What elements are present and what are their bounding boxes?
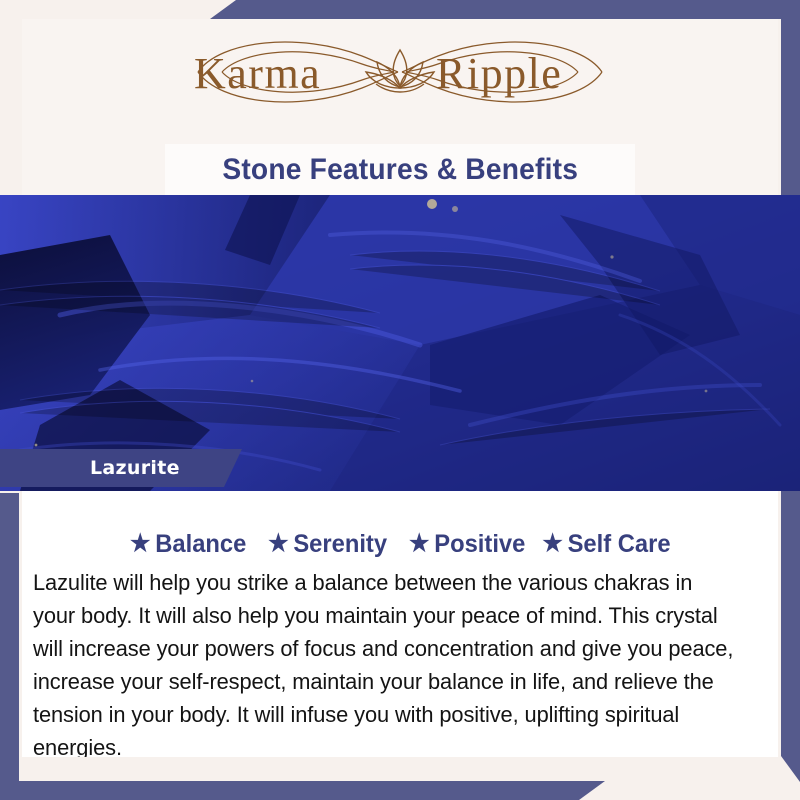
keyword-serenity: ★ Serenity bbox=[268, 530, 387, 559]
keyword-balance: ★ Balance bbox=[130, 530, 246, 559]
keyword-list: ★ Balance ★ Serenity ★ Positive ★ Self C… bbox=[22, 527, 778, 561]
karma-ripple-logo-svg: Karma Ripple bbox=[180, 26, 620, 118]
page-title-plate: Stone Features & Benefits bbox=[165, 144, 635, 196]
star-icon: ★ bbox=[130, 532, 150, 556]
star-icon: ★ bbox=[409, 532, 429, 556]
star-icon: ★ bbox=[542, 532, 562, 556]
brand-name-right: Ripple bbox=[436, 49, 562, 98]
lotus-icon bbox=[366, 50, 434, 92]
keyword-label: Balance bbox=[155, 530, 246, 559]
stone-name-banner: Lazurite bbox=[0, 449, 242, 487]
keyword-self-care: ★ Self Care bbox=[542, 530, 670, 559]
keyword-positive: ★ Positive bbox=[409, 530, 525, 559]
star-icon: ★ bbox=[268, 532, 288, 556]
bottom-left-accent-band bbox=[0, 781, 605, 800]
card-bottom-gap bbox=[22, 757, 778, 779]
keyword-label: Positive bbox=[434, 530, 525, 559]
left-accent-band bbox=[0, 493, 19, 800]
top-right-accent-band bbox=[210, 0, 800, 19]
brand-logo: Karma Ripple bbox=[0, 24, 800, 120]
stone-name: Lazurite bbox=[90, 457, 180, 479]
stone-description: Lazulite will help you strike a balance … bbox=[33, 566, 733, 764]
stone-photo bbox=[0, 195, 800, 491]
page-title: Stone Features & Benefits bbox=[222, 153, 578, 187]
lazurite-stone-image bbox=[0, 195, 800, 491]
keyword-label: Serenity bbox=[293, 530, 387, 559]
stone-benefits-poster: Karma Ripple Stone Features & Benefits bbox=[0, 0, 800, 800]
keyword-label: Self Care bbox=[567, 530, 670, 559]
brand-name-left: Karma bbox=[194, 49, 321, 98]
